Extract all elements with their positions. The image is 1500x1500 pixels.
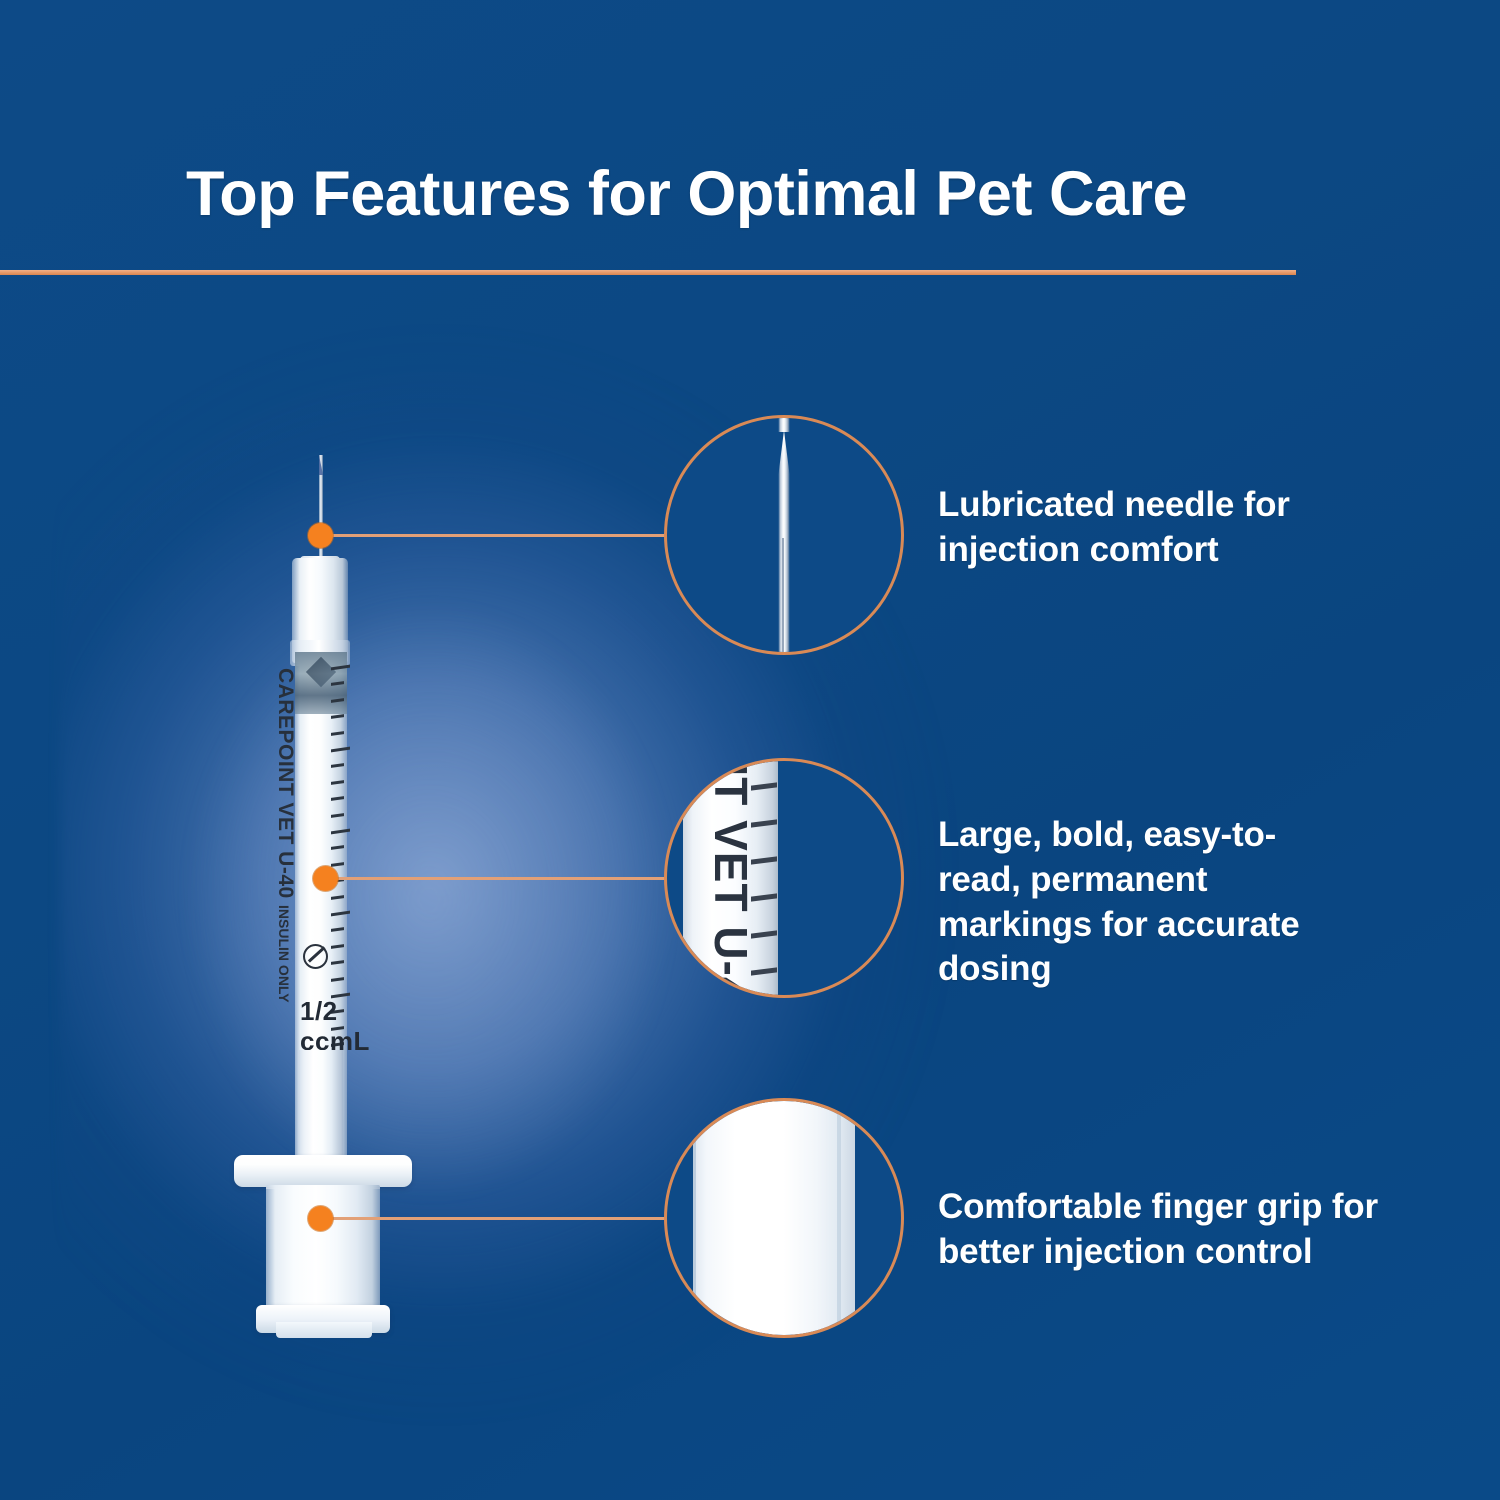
barrel-print-text: CAREPOINT VET U-40 INSULIN ONLY <box>270 668 300 1068</box>
callout-circle-3-content <box>667 1101 901 1335</box>
connector-line-feature-1 <box>330 534 675 537</box>
magnified-graduation-tick <box>751 819 777 827</box>
feature-text-3: Comfortable finger grip for better injec… <box>938 1185 1388 1275</box>
graduation-tick <box>331 895 344 900</box>
callout-circle-feature-2[interactable]: NT VET U-40 INSU <box>664 758 904 998</box>
barrel-lower-section <box>299 1050 343 1162</box>
magnified-grip-surface <box>693 1101 855 1335</box>
connector-line-feature-2 <box>330 877 675 880</box>
magnified-graduation-tick <box>751 930 777 938</box>
no-reuse-symbol-icon <box>303 944 328 969</box>
finger-flange <box>234 1155 412 1187</box>
graduation-tick <box>331 698 344 703</box>
graduation-tick <box>331 763 344 768</box>
plunger-foot <box>276 1322 372 1338</box>
graduation-tick <box>331 665 350 671</box>
barrel-insulin-text: INSULIN ONLY <box>276 905 292 1003</box>
magnified-graduation-tick <box>751 967 777 975</box>
magnified-graduation-tick <box>751 856 777 864</box>
graduation-tick <box>331 977 344 982</box>
magnified-graduation-tick <box>751 782 777 790</box>
connector-line-feature-3 <box>330 1217 675 1220</box>
graduation-tick <box>331 714 344 719</box>
graduation-tick <box>331 944 344 949</box>
magnified-graduation-tick <box>751 893 777 901</box>
infographic-canvas: Top Features for Optimal Pet Care CAREPO… <box>0 0 1500 1500</box>
magnified-grip-edge-left <box>693 1101 696 1335</box>
feature-text-1: Lubricated needle for injection comfort <box>938 483 1358 573</box>
graduation-tick <box>331 960 344 965</box>
callout-circle-feature-3[interactable] <box>664 1098 904 1338</box>
graduation-tick <box>331 829 350 835</box>
graduation-tick <box>331 927 344 932</box>
graduation-tick <box>331 911 350 917</box>
graduation-tick <box>331 813 344 818</box>
graduation-tick <box>331 681 344 686</box>
callout-circle-2-content: NT VET U-40 INSU <box>667 761 901 995</box>
callout-circle-1-content <box>667 418 901 652</box>
graduation-tick <box>331 780 344 785</box>
graduation-tick <box>331 796 344 801</box>
hotspot-dot-feature-2[interactable] <box>313 866 338 891</box>
volume-value-label: 1/2 <box>300 996 338 1027</box>
graduation-tick <box>331 862 344 867</box>
graduation-tick <box>331 731 344 736</box>
hotspot-dot-feature-1[interactable] <box>308 523 333 548</box>
hotspot-dot-feature-3[interactable] <box>308 1206 333 1231</box>
magnified-needle-seam <box>782 538 784 652</box>
callout-circle-feature-1[interactable] <box>664 415 904 655</box>
graduation-tick <box>331 747 350 753</box>
magnified-graduation-ticks <box>751 761 781 995</box>
barrel-brand-text: CAREPOINT VET U-40 <box>274 668 297 899</box>
graduation-tick <box>331 845 344 850</box>
feature-text-2: Large, bold, easy-to-read, permanent mar… <box>938 813 1358 992</box>
plunger-finger-grip <box>266 1185 380 1313</box>
magnified-grip-edge-right <box>837 1101 841 1335</box>
